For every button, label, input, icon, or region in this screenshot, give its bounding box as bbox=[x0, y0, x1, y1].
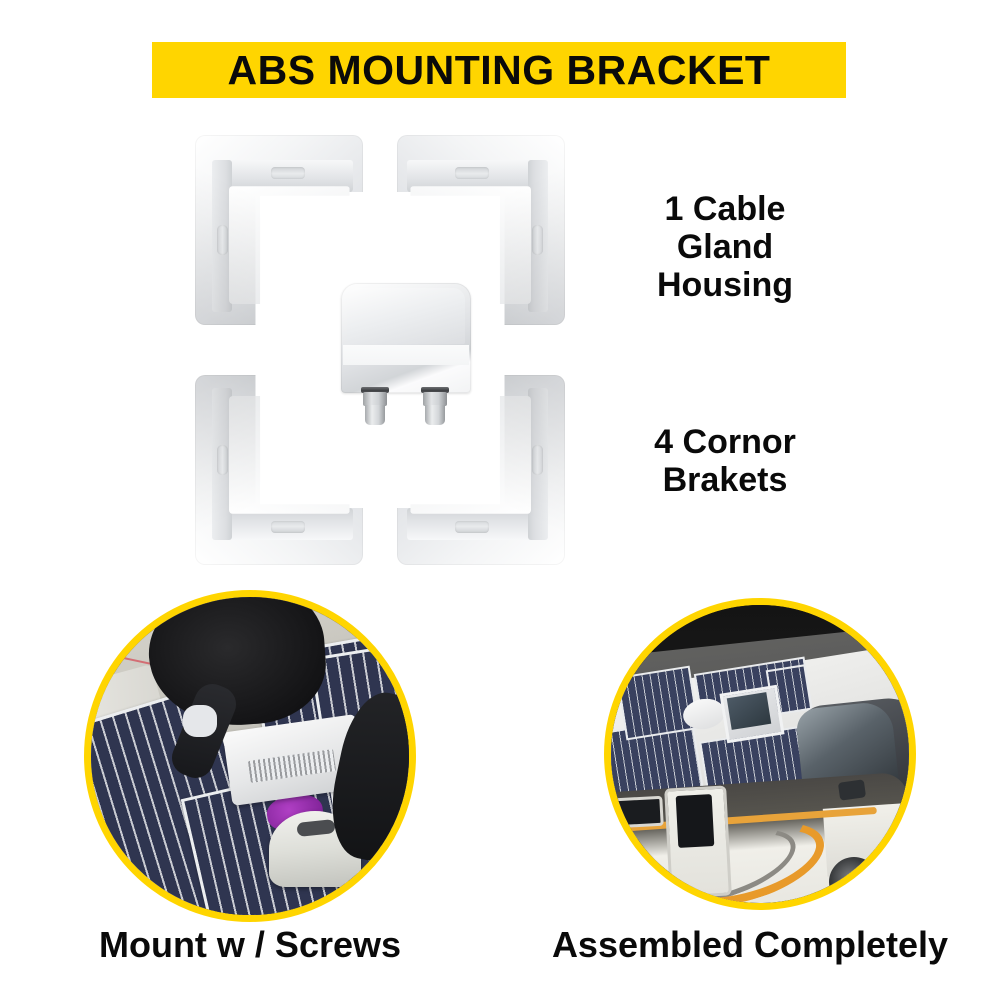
callout-line: 4 Cornor bbox=[600, 423, 850, 461]
motorhome-scene bbox=[611, 605, 909, 903]
photo-mount-with-screws bbox=[84, 590, 416, 922]
callout-corner-brackets: 4 Cornor Brakets bbox=[600, 423, 850, 499]
bracket-screw-notch-top bbox=[455, 521, 489, 533]
photo-content bbox=[611, 605, 909, 903]
bracket-screw-notch-top bbox=[271, 167, 305, 179]
roof-hatch-glass bbox=[727, 692, 772, 730]
callout-cable-gland-housing: 1 Cable Gland Housing bbox=[600, 190, 850, 304]
gland-housing-band bbox=[343, 345, 469, 365]
product-infographic: ABS MOUNTING BRACKET bbox=[0, 0, 1000, 1000]
callout-line: Housing bbox=[600, 266, 850, 304]
callout-line: Brakets bbox=[600, 461, 850, 499]
photo-content bbox=[91, 597, 409, 915]
worker-hand bbox=[183, 705, 217, 737]
gland-housing-lid bbox=[347, 288, 465, 344]
front-wheel bbox=[829, 857, 879, 903]
corner-bracket-bottom-left bbox=[195, 375, 363, 565]
side-mirror bbox=[838, 779, 866, 800]
bracket-screw-notch-top bbox=[455, 167, 489, 179]
bracket-recess bbox=[229, 396, 350, 514]
title-banner: ABS MOUNTING BRACKET bbox=[152, 42, 846, 98]
side-window bbox=[614, 796, 664, 828]
page-title: ABS MOUNTING BRACKET bbox=[228, 50, 771, 91]
gland-cap bbox=[365, 405, 385, 425]
photo-assembled-completely bbox=[604, 598, 916, 910]
bracket-screw-notch-top bbox=[271, 521, 305, 533]
cable-gland-right bbox=[421, 387, 449, 427]
gland-nut bbox=[363, 392, 387, 406]
caption-assembled-completely: Assembled Completely bbox=[500, 924, 1000, 966]
bracket-screw-notch-side bbox=[532, 225, 543, 255]
rv-roof-install-scene bbox=[91, 597, 409, 915]
gland-nut bbox=[423, 392, 447, 406]
entry-door-window bbox=[676, 794, 715, 848]
product-exploded-view bbox=[195, 135, 565, 565]
bracket-recess bbox=[229, 186, 350, 304]
gland-cap bbox=[425, 405, 445, 425]
solar-panel bbox=[616, 666, 699, 741]
caption-mount-with-screws: Mount w / Screws bbox=[0, 924, 500, 966]
callout-line: 1 Cable bbox=[600, 190, 850, 228]
corner-bracket-top-left bbox=[195, 135, 363, 325]
cable-gland-left bbox=[361, 387, 389, 427]
cable-gland-housing bbox=[341, 283, 471, 423]
bracket-screw-notch-side bbox=[217, 225, 228, 255]
bracket-screw-notch-side bbox=[217, 445, 228, 475]
callout-line: Gland bbox=[600, 228, 850, 266]
bracket-screw-notch-side bbox=[532, 445, 543, 475]
